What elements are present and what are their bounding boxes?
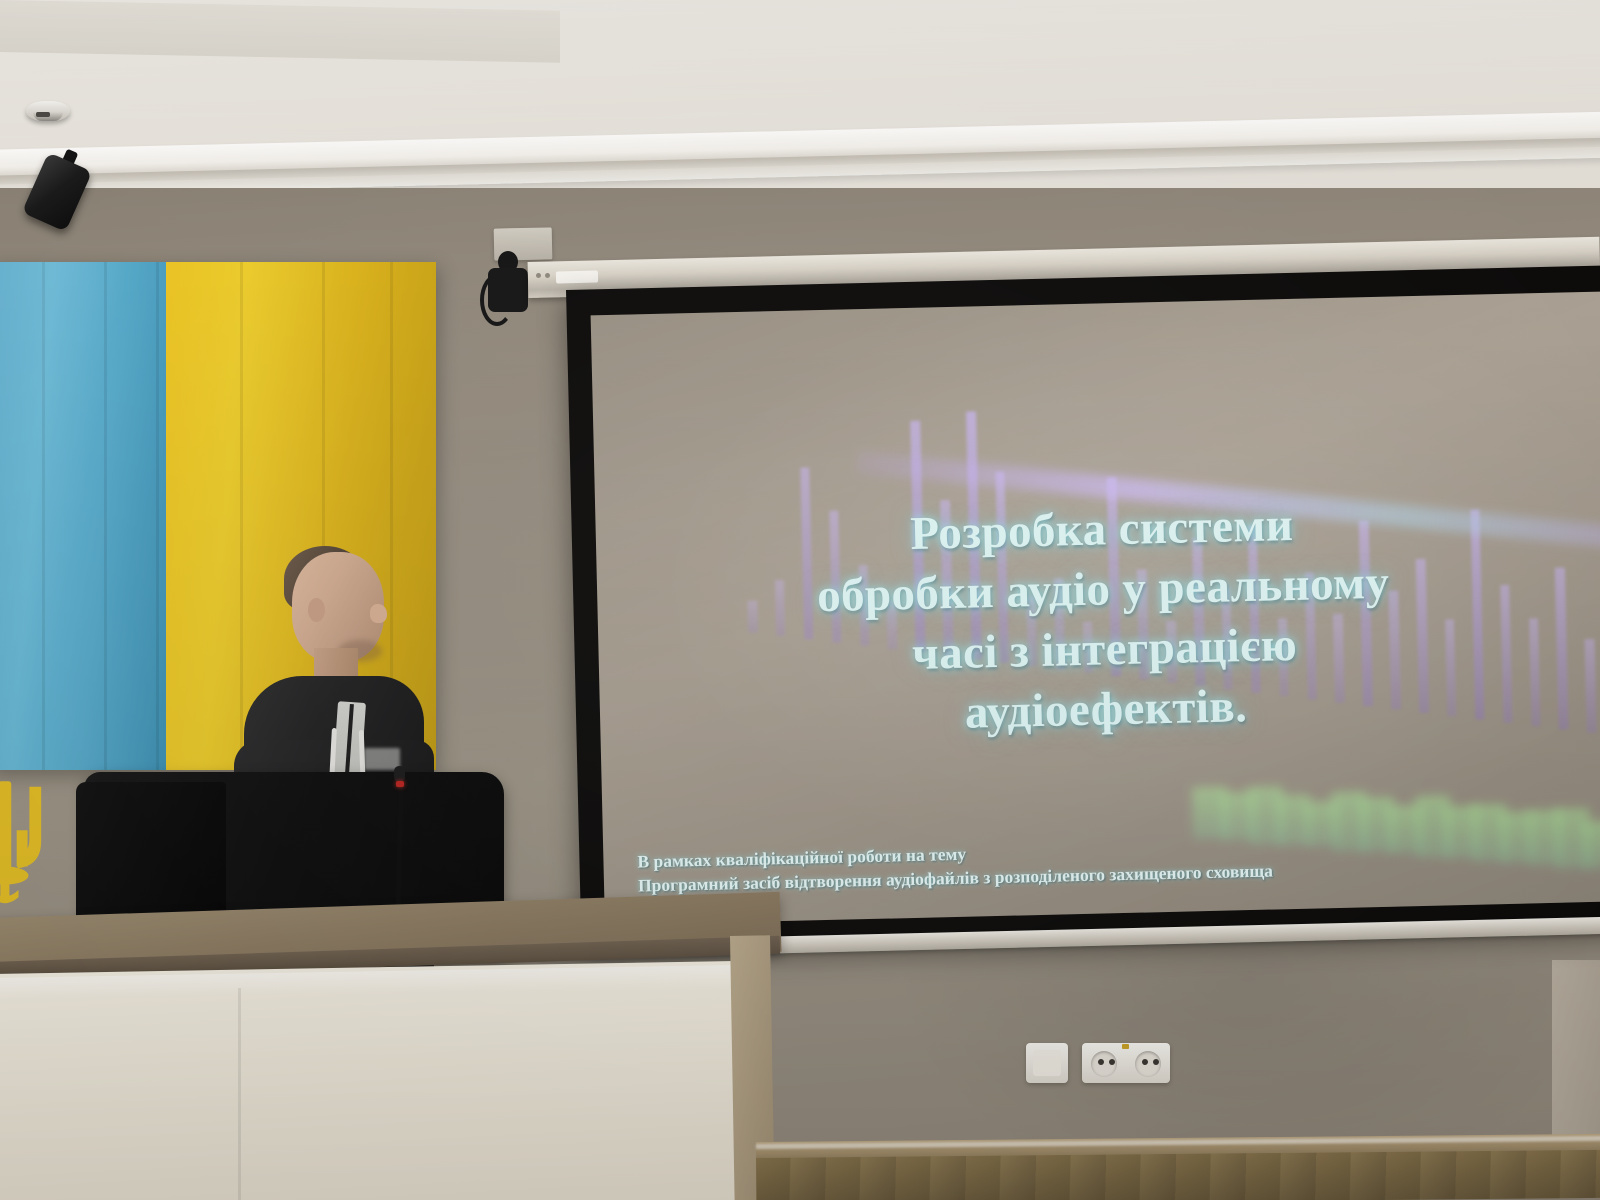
projection-screen-surface: Розробка системи обробки аудіо у реально… — [591, 292, 1600, 926]
presenter-nose — [370, 604, 387, 623]
microphone-led-indicator — [396, 781, 404, 787]
smoke-detector-icon — [26, 101, 70, 121]
roller-case-badge — [556, 271, 598, 284]
wall-right-section — [1552, 960, 1600, 1160]
power-socket-icon — [1082, 1043, 1170, 1083]
microphone-icon — [394, 766, 405, 782]
tryzub-emblem-icon — [0, 774, 50, 910]
blank-plate-icon — [1026, 1043, 1068, 1083]
projection-screen: Розробка системи обробки аудіо у реально… — [566, 265, 1600, 950]
smoke-detector-vent — [36, 112, 50, 117]
slide-title: Розробка системи обробки аудіо у реально… — [595, 488, 1600, 752]
counter-panel-seam — [238, 988, 241, 1200]
roller-screw — [545, 273, 550, 278]
presenter-ear — [308, 598, 325, 622]
cable-body-icon — [488, 268, 528, 312]
roller-screw — [536, 273, 541, 278]
ceiling-recess — [0, 0, 560, 63]
presentation-room-photo: Розробка системи обробки аудіо у реально… — [0, 0, 1600, 1200]
socket-screw — [1122, 1044, 1129, 1049]
floor-shading — [756, 1150, 1600, 1200]
